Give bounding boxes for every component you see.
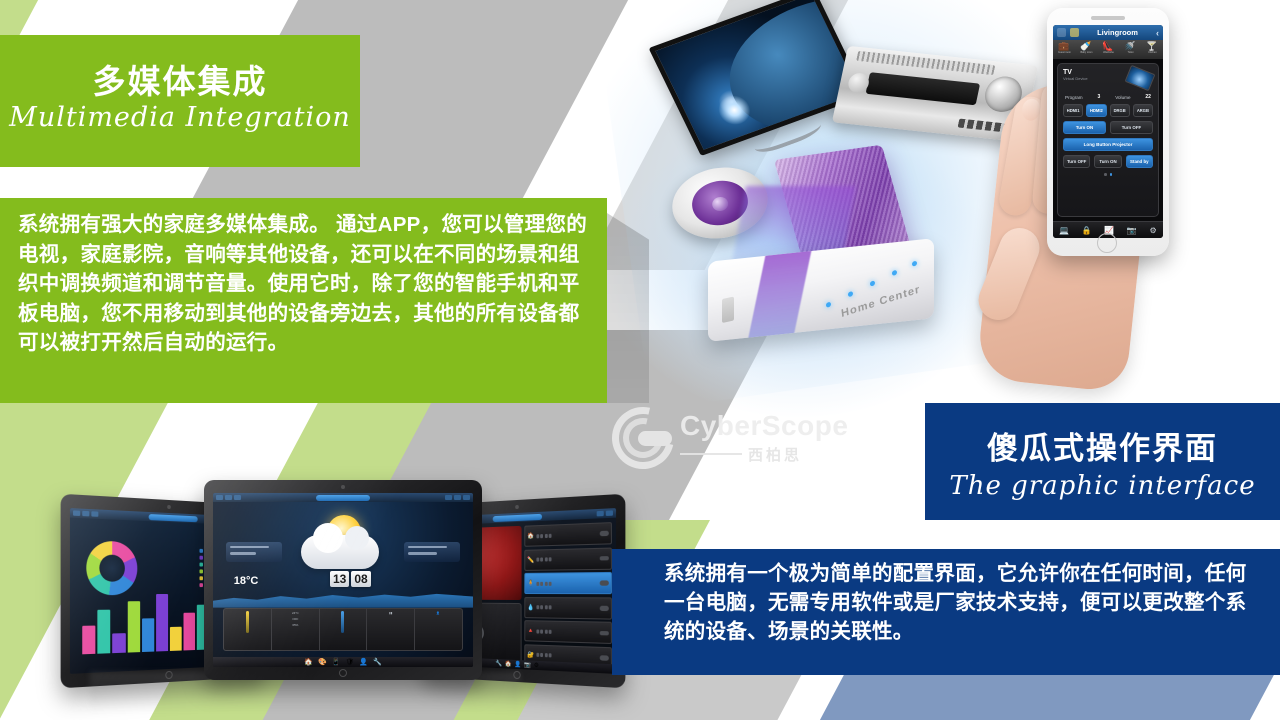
- action-buttons: Turn OFF Turn ON Stand by: [1063, 155, 1153, 168]
- page-dot[interactable]: [1104, 173, 1107, 176]
- weather-panel: 18°C 13 08 24°COFF65% ▮▮ 👤 🏠: [213, 502, 473, 667]
- program-volume-row: Program 3 Volume 22: [1063, 94, 1153, 100]
- scene-row[interactable]: 💧: [525, 597, 612, 620]
- phone-room-selector[interactable]: 💼Guest room 🍼Baby room 👠Wardrobe 🚿Toilet…: [1053, 40, 1163, 59]
- earpiece: [1091, 16, 1125, 20]
- panel-column-climate[interactable]: 24°COFF65%: [272, 609, 320, 650]
- settings-icon[interactable]: ⚙: [1149, 226, 1156, 235]
- volume-value: 22: [1145, 94, 1151, 100]
- home-button[interactable]: [1097, 233, 1117, 253]
- device-header: TV Virtual Device: [1063, 69, 1153, 87]
- program-label: Program: [1065, 95, 1083, 100]
- home-center-hub-icon: Home Center: [700, 232, 950, 340]
- tools-icon[interactable]: 🔧: [373, 658, 382, 666]
- clock-widget: 13 08: [330, 571, 371, 587]
- page-indicator[interactable]: [1063, 173, 1153, 176]
- laptop-icon[interactable]: 💻: [1059, 226, 1069, 235]
- clock-hour: 13: [330, 571, 349, 587]
- graphic-body-text: 系统拥有一个极为简单的配置界面，它允许你在任何时间，任何一台电脑，无需专用软件或…: [664, 559, 1262, 646]
- program-value: 3: [1098, 94, 1101, 100]
- graphic-body-panel: 系统拥有一个极为简单的配置界面，它允许你在任何时间，任何一台电脑，无需专用软件或…: [612, 549, 1280, 675]
- action-turn-off[interactable]: Turn OFF: [1063, 155, 1090, 168]
- green-panel-shadow: [607, 213, 649, 403]
- graphic-title-en: The graphic interface: [949, 471, 1255, 501]
- source-button-argb[interactable]: ARGB: [1133, 104, 1153, 117]
- scene-row[interactable]: 🏠: [525, 522, 612, 547]
- cloud-icon: [301, 535, 379, 569]
- lightbulb-icon[interactable]: [1070, 28, 1079, 37]
- turn-off-button[interactable]: Turn OFF: [1110, 121, 1153, 134]
- slide-canvas: Home Center Livingroom ‹ 💼Guest room 🍼Ba…: [0, 0, 1280, 720]
- front-camera: [167, 505, 171, 509]
- volume-label: Volume: [1115, 95, 1130, 100]
- scene-row[interactable]: 🔺: [525, 620, 612, 644]
- source-button-drgb[interactable]: DRGB: [1110, 104, 1130, 117]
- panel-column-light[interactable]: [224, 609, 272, 650]
- scene-row-selected[interactable]: 🧍: [525, 572, 612, 594]
- multimedia-title-en: Multimedia Integration: [9, 102, 351, 133]
- room-item[interactable]: 🍸Kitchen: [1144, 41, 1161, 54]
- phone-screen[interactable]: Livingroom ‹ 💼Guest room 🍼Baby room 👠War…: [1053, 25, 1163, 238]
- device-subtitle: Virtual Device: [1063, 76, 1088, 81]
- front-camera: [515, 505, 519, 509]
- multimedia-title-panel: 多媒体集成 Multimedia Integration: [0, 35, 360, 167]
- chevron-left-icon[interactable]: ‹: [1156, 28, 1159, 38]
- security-icon[interactable]: 🛡: [345, 658, 354, 666]
- brand-name-en: CyberScope: [680, 412, 848, 440]
- camera-icon[interactable]: 📷: [1127, 226, 1137, 235]
- panel-column-services[interactable]: 👤: [415, 609, 462, 650]
- source-buttons: HDMI1 HDMI2 DRGB ARGB: [1063, 104, 1153, 117]
- device-name: TV: [1063, 69, 1088, 76]
- tablet-screen-middle[interactable]: 18°C 13 08 24°COFF65% ▮▮ 👤 🏠: [213, 493, 473, 667]
- weather-dashboard-tablet: 18°C 13 08 24°COFF65% ▮▮ 👤 🏠: [204, 480, 482, 680]
- lock-icon[interactable]: 🔒: [1082, 226, 1092, 235]
- device-control-card: TV Virtual Device Program 3 Volume 22 HD…: [1057, 63, 1159, 217]
- weather-info-right: [404, 542, 460, 562]
- hub-port: [722, 297, 734, 324]
- smartphone: Livingroom ‹ 💼Guest room 🍼Baby room 👠War…: [1047, 8, 1169, 256]
- action-standby[interactable]: Stand by: [1126, 155, 1153, 168]
- graphic-title-panel: 傻瓜式操作界面 The graphic interface: [925, 403, 1280, 520]
- panel-column-alarm[interactable]: ▮▮: [367, 609, 415, 650]
- forecast-graph: [213, 590, 473, 608]
- action-turn-on[interactable]: Turn ON: [1094, 155, 1121, 168]
- control-panel[interactable]: 24°COFF65% ▮▮ 👤: [223, 608, 462, 651]
- hub-light-stripe: [745, 245, 812, 342]
- media-icon[interactable]: 📱: [332, 658, 341, 666]
- rooms-icon[interactable]: [1057, 28, 1066, 37]
- toolbar-pill[interactable]: [316, 495, 370, 501]
- receiver-vent: [857, 51, 996, 75]
- weather-temperature: 18°C: [234, 575, 259, 587]
- tablet-toolbar[interactable]: [213, 493, 473, 502]
- front-camera: [341, 485, 345, 489]
- multimedia-body-panel: 系统拥有强大的家庭多媒体集成。 通过APP，您可以管理您的电视，家庭影院，音响等…: [0, 198, 607, 403]
- phone-statusbar: Livingroom ‹: [1053, 25, 1163, 40]
- projector-button-row: Long Button Projector: [1063, 138, 1153, 151]
- home-icon[interactable]: 🏠: [304, 658, 313, 666]
- long-button-projector[interactable]: Long Button Projector: [1063, 138, 1153, 151]
- multimedia-title-cn: 多媒体集成: [93, 63, 268, 101]
- source-button-hdmi2[interactable]: HDMI2: [1086, 104, 1106, 117]
- scene-row[interactable]: ✏️: [525, 547, 612, 571]
- brand-name-cn: 西柏思: [748, 444, 802, 465]
- page-dot-active[interactable]: [1110, 173, 1113, 176]
- turn-on-button[interactable]: Turn ON: [1063, 121, 1106, 134]
- room-item[interactable]: 👠Wardrobe: [1100, 41, 1117, 54]
- receiver-display: [865, 72, 980, 105]
- multimedia-body-text: 系统拥有强大的家庭多媒体集成。 通过APP，您可以管理您的电视，家庭影院，音响等…: [18, 210, 591, 358]
- cyberscope-ring-logo-icon: [612, 407, 674, 469]
- clock-minute: 08: [351, 571, 370, 587]
- room-item[interactable]: 💼Guest room: [1056, 41, 1073, 54]
- cyberscope-logo: CyberScope 西柏思: [612, 402, 862, 474]
- weather-info-left: [226, 542, 282, 562]
- room-item[interactable]: 🚿Toilet: [1122, 41, 1139, 54]
- tablet-dock[interactable]: 🏠 🎨 📱 🛡 👤 🔧: [213, 657, 473, 667]
- graphic-title-cn: 傻瓜式操作界面: [987, 423, 1218, 468]
- tv-thumbnail: [1125, 65, 1156, 91]
- tablet-group: 22°C Temperature 🏠 ✏️ 🧍 💧 🔺 🔐: [58, 480, 628, 680]
- colorwheel-icon[interactable]: 🎨: [318, 658, 327, 666]
- source-button-hdmi1[interactable]: HDMI1: [1063, 104, 1083, 117]
- home-button[interactable]: [339, 669, 347, 677]
- power-buttons: Turn ON Turn OFF: [1063, 121, 1153, 134]
- panel-column-blinds[interactable]: [320, 609, 368, 650]
- phone-title: Livingroom: [1083, 28, 1152, 37]
- room-item[interactable]: 🍼Baby room: [1078, 41, 1095, 54]
- scene-list[interactable]: 🏠 ✏️ 🧍 💧 🔺 🔐: [525, 522, 612, 669]
- user-icon[interactable]: 👤: [359, 658, 368, 666]
- tv-icon: [649, 0, 867, 156]
- hand-holding-phone: Livingroom ‹ 💼Guest room 🍼Baby room 👠War…: [985, 0, 1280, 380]
